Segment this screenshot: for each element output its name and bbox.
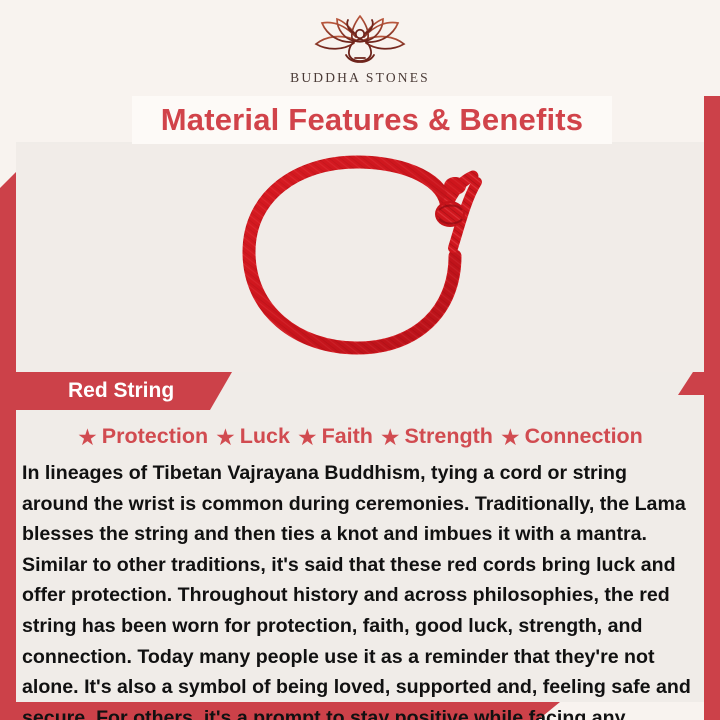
star-icon: ★	[297, 426, 318, 449]
product-tag-label: Red String	[68, 379, 174, 403]
keyword-strength: ★ Strength	[380, 426, 493, 449]
infographic-page: BUDDHA STONES Material Features & Benefi…	[0, 0, 720, 720]
title-banner: Material Features & Benefits	[132, 96, 612, 144]
keyword-label: Luck	[240, 426, 290, 448]
star-icon: ★	[380, 426, 401, 449]
keyword-label: Faith	[322, 426, 373, 448]
benefit-keywords: ★ Protection ★ Luck ★ Faith ★ Strength ★…	[16, 418, 704, 456]
star-icon: ★	[215, 426, 236, 449]
keyword-protection: ★ Protection	[77, 426, 208, 449]
star-icon: ★	[500, 426, 521, 449]
lotus-meditation-icon	[306, 12, 414, 68]
star-icon: ★	[77, 426, 98, 449]
product-tag: Red String	[16, 372, 232, 410]
keyword-luck: ★ Luck	[215, 426, 290, 449]
red-braided-string-bracelet-icon	[231, 152, 489, 364]
page-title: Material Features & Benefits	[161, 102, 584, 138]
keyword-label: Connection	[525, 426, 643, 448]
brand-header: BUDDHA STONES	[0, 0, 720, 96]
description-text: In lineages of Tibetan Vajrayana Buddhis…	[22, 458, 694, 720]
keyword-faith: ★ Faith	[297, 426, 373, 449]
brand-name: BUDDHA STONES	[290, 70, 430, 86]
product-tag-row: Red String	[16, 372, 704, 414]
keyword-connection: ★ Connection	[500, 426, 643, 449]
keyword-label: Strength	[405, 426, 493, 448]
right-red-stripe-upper	[704, 96, 720, 426]
right-red-stripe-lower	[704, 426, 720, 720]
left-red-stripe	[0, 172, 16, 720]
keyword-label: Protection	[102, 426, 208, 448]
product-image-area	[16, 144, 704, 372]
